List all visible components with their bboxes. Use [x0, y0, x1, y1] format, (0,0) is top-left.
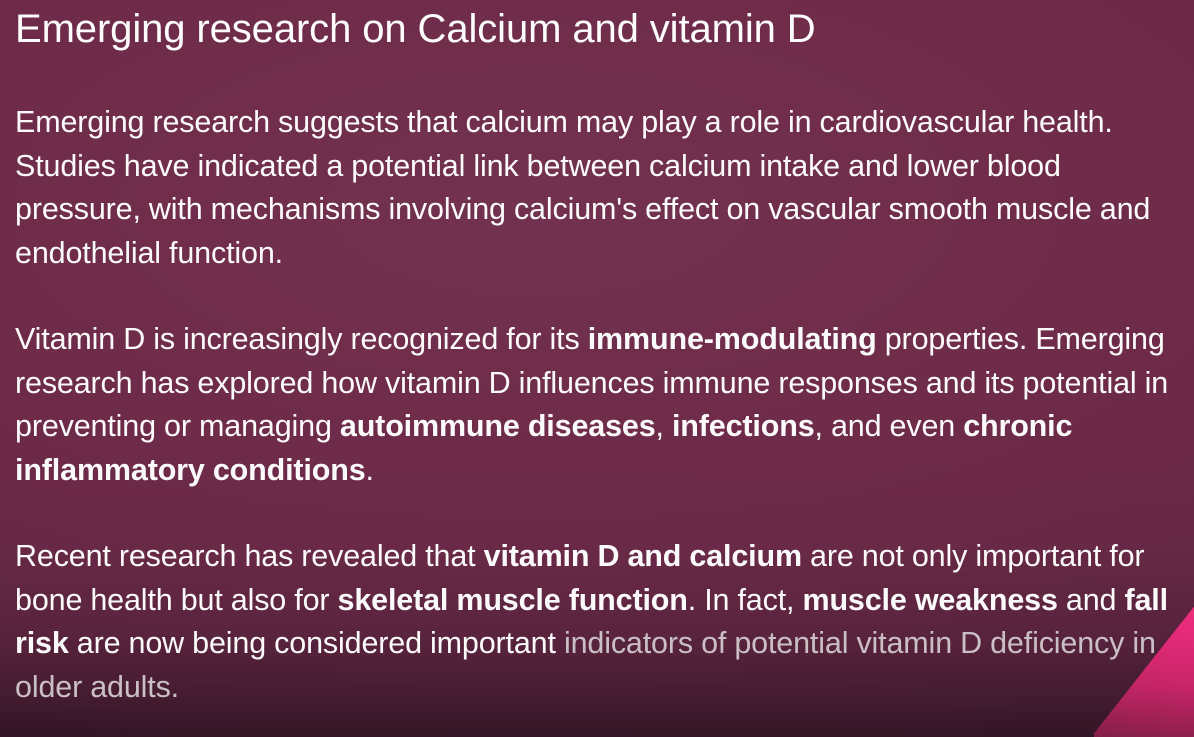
paragraph-vitamin-d-immune: Vitamin D is increasingly recognized for… [15, 318, 1180, 492]
paragraph-muscle-function: Recent research has revealed that vitami… [15, 535, 1180, 709]
slide-content: Emerging research on Calcium and vitamin… [0, 0, 1194, 709]
paragraph-calcium-cardiovascular: Emerging research suggests that calcium … [15, 101, 1180, 275]
slide-canvas: Emerging research on Calcium and vitamin… [0, 0, 1194, 737]
page-title: Emerging research on Calcium and vitamin… [15, 0, 1180, 53]
slide-body: Emerging research suggests that calcium … [15, 53, 1180, 709]
